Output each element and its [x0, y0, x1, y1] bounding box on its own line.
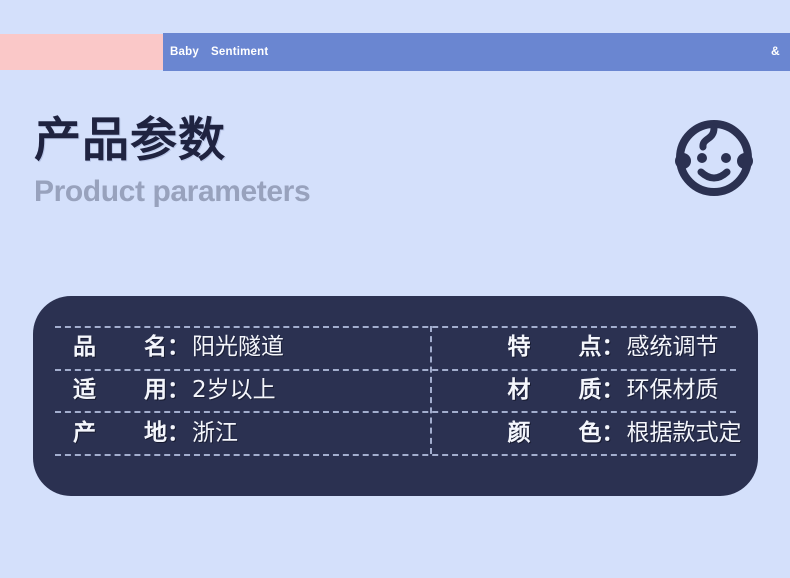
spec-key: 特点：: [508, 334, 625, 360]
spec-key: 品名：: [73, 334, 190, 360]
spec-key: 材质：: [508, 377, 625, 403]
ribbon-word-sentiment: Sentiment: [211, 45, 268, 59]
spec-cell-origin: 产地： 浙江: [55, 411, 396, 454]
spec-key-char-1: 颜: [508, 420, 531, 446]
spec-cell-product-name: 品名： 阳光隧道: [55, 326, 396, 369]
table-row: 产地： 浙江 颜色： 根据款式定: [55, 411, 736, 454]
ribbon-band-pink: [0, 34, 164, 70]
baby-face-icon: [672, 116, 756, 200]
spec-value: 根据款式定: [627, 420, 742, 446]
page-subtitle: Product parameters: [34, 172, 504, 212]
table-row: 品名： 阳光隧道 特点： 感统调节: [55, 326, 736, 369]
spec-key: 适用：: [73, 377, 190, 403]
spec-key-char-1: 材: [508, 377, 531, 403]
spec-divider-h-4: [55, 454, 736, 456]
spec-value: 2岁以上: [192, 377, 276, 403]
spec-table: 品名： 阳光隧道 特点： 感统调节 适用： 2岁以上 材质： 环保材质 产地：: [55, 326, 736, 454]
page-title: 产品参数: [34, 112, 504, 170]
spec-key: 颜色：: [508, 420, 625, 446]
spec-value: 感统调节: [627, 334, 719, 360]
spec-key-char-2: 质：: [579, 377, 625, 403]
ribbon-word-baby: Baby: [170, 45, 199, 59]
spec-value: 阳光隧道: [192, 334, 284, 360]
spec-value: 浙江: [192, 420, 238, 446]
spec-key-char-2: 色：: [579, 420, 625, 446]
spec-key-char-1: 产: [73, 420, 96, 446]
spec-cell-color: 颜色： 根据款式定: [396, 411, 737, 454]
spec-key-char-2: 名：: [144, 334, 190, 360]
spec-key-char-2: 用：: [144, 377, 190, 403]
spec-key-char-1: 特: [508, 334, 531, 360]
heading-block: 产品参数 Product parameters: [34, 112, 504, 212]
spec-key: 产地：: [73, 420, 190, 446]
spec-card: 品名： 阳光隧道 特点： 感统调节 适用： 2岁以上 材质： 环保材质 产地：: [33, 296, 758, 496]
spec-key-char-2: 点：: [579, 334, 625, 360]
spec-key-char-1: 适: [73, 377, 96, 403]
spec-cell-feature: 特点： 感统调节: [396, 326, 737, 369]
table-row: 适用： 2岁以上 材质： 环保材质: [55, 369, 736, 412]
spec-cell-material: 材质： 环保材质: [396, 369, 737, 412]
ribbon-ampersand: &: [771, 44, 780, 59]
spec-cell-suitable-age: 适用： 2岁以上: [55, 369, 396, 412]
spec-key-char-1: 品: [73, 334, 96, 360]
spec-value: 环保材质: [627, 377, 719, 403]
spec-key-char-2: 地：: [144, 420, 190, 446]
